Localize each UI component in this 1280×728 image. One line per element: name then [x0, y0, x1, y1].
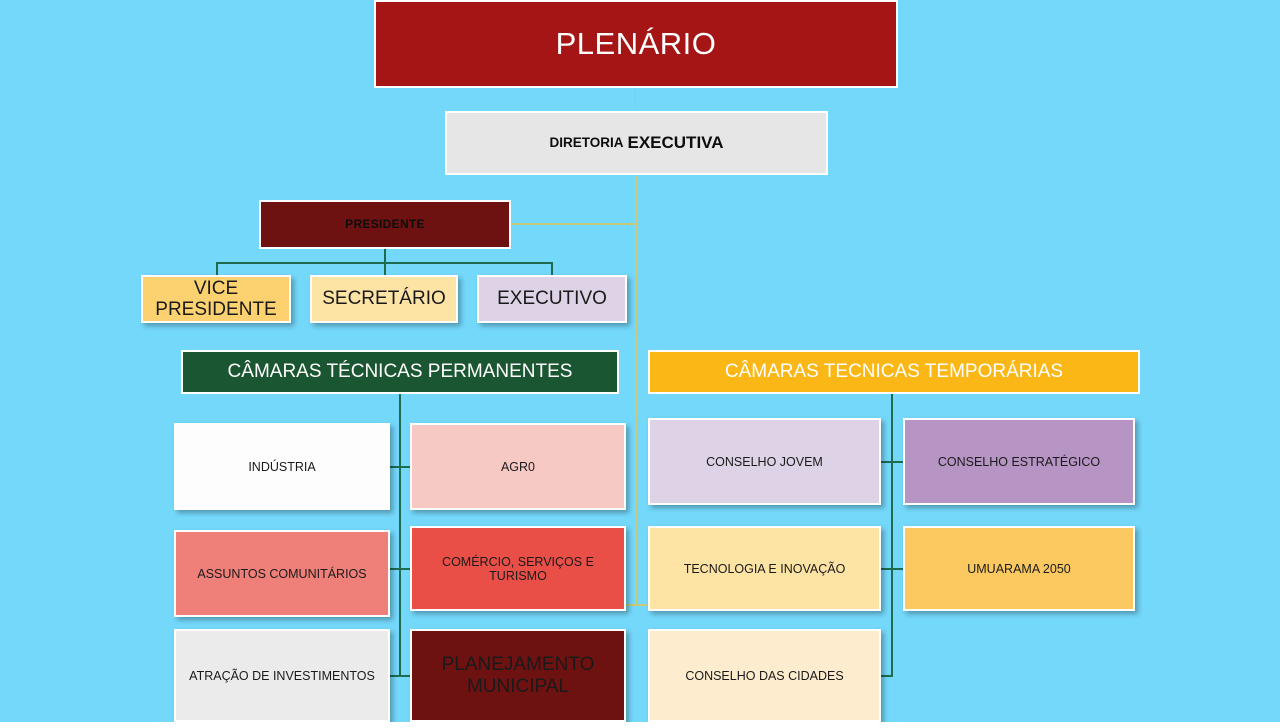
connector-drop-secretario: [384, 262, 386, 276]
card-conselho-estrategico-label: CONSELHO ESTRATÉGICO: [938, 455, 1100, 469]
node-executivo-label: EXECUTIVO: [497, 288, 607, 309]
connector-permanentes-trunk: [399, 394, 401, 676]
org-chart-canvas: PLENÁRIO DIRETORIA EXECUTIVA PRESIDENTE …: [0, 0, 1280, 728]
card-planejamento-municipal-label: PLANEJAMENTO MUNICIPAL: [412, 654, 624, 697]
card-planejamento-municipal[interactable]: PLANEJAMENTO MUNICIPAL: [410, 629, 626, 722]
bottom-white-strip: [0, 722, 1280, 728]
card-umuarama-2050-label: UMUARAMA 2050: [967, 562, 1071, 576]
node-presidente-label: PRESIDENTE: [345, 218, 425, 231]
connector-presidente-stem: [384, 249, 386, 263]
node-executivo[interactable]: EXECUTIVO: [477, 275, 627, 323]
card-industria-label: INDÚSTRIA: [248, 460, 315, 474]
header-camaras-tecnicas-temporarias[interactable]: CÂMARAS TECNICAS TEMPORÁRIAS: [648, 350, 1140, 394]
card-atracao-de-investimentos[interactable]: ATRAÇÃO DE INVESTIMENTOS: [174, 629, 390, 722]
card-conselho-estrategico[interactable]: CONSELHO ESTRATÉGICO: [903, 418, 1135, 505]
connector-diretoria-trunk: [635, 176, 637, 606]
connector-temporarias-trunk: [891, 394, 893, 676]
node-diretoria-executiva[interactable]: DIRETORIA EXECUTIVA: [445, 111, 828, 175]
card-atracao-de-investimentos-label: ATRAÇÃO DE INVESTIMENTOS: [189, 669, 375, 683]
card-conselho-das-cidades[interactable]: CONSELHO DAS CIDADES: [648, 629, 881, 722]
card-assuntos-comunitarios-label: ASSUNTOS COMUNITÁRIOS: [197, 567, 366, 581]
header-camaras-tecnicas-permanentes[interactable]: CÂMARAS TÉCNICAS PERMANENTES: [181, 350, 619, 394]
node-vice-presidente-label: VICE PRESIDENTE: [143, 278, 289, 321]
connector-temporarias-stub-1: [877, 461, 906, 463]
card-agro[interactable]: AGR0: [410, 423, 626, 510]
node-diretoria-label-bold: EXECUTIVA: [627, 133, 723, 152]
node-secretario[interactable]: SECRETÁRIO: [310, 275, 458, 323]
card-comercio-servicos-turismo[interactable]: COMÉRCIO, SERVIÇOS E TURISMO: [410, 526, 626, 611]
connector-plenario-diretoria: [635, 88, 636, 110]
card-tecnologia-e-inovacao[interactable]: TECNOLOGIA E INOVAÇÃO: [648, 526, 881, 611]
connector-trunk-presidente: [511, 223, 637, 225]
node-vice-presidente[interactable]: VICE PRESIDENTE: [141, 275, 291, 323]
connector-drop-executivo: [551, 262, 553, 276]
connector-drop-vice-presidente: [216, 262, 218, 276]
node-presidente[interactable]: PRESIDENTE: [259, 200, 511, 249]
card-conselho-jovem[interactable]: CONSELHO JOVEM: [648, 418, 881, 505]
card-comercio-servicos-turismo-label: COMÉRCIO, SERVIÇOS E TURISMO: [412, 555, 624, 583]
node-plenario-label: PLENÁRIO: [556, 27, 717, 62]
card-agro-label: AGR0: [501, 460, 535, 474]
card-conselho-das-cidades-label: CONSELHO DAS CIDADES: [685, 669, 843, 683]
card-umuarama-2050[interactable]: UMUARAMA 2050: [903, 526, 1135, 611]
card-tecnologia-e-inovacao-label: TECNOLOGIA E INOVAÇÃO: [684, 562, 846, 576]
card-industria[interactable]: INDÚSTRIA: [174, 423, 390, 510]
node-plenario[interactable]: PLENÁRIO: [374, 0, 898, 88]
card-conselho-jovem-label: CONSELHO JOVEM: [706, 455, 823, 469]
header-permanentes-label: CÂMARAS TÉCNICAS PERMANENTES: [228, 361, 573, 382]
card-assuntos-comunitarios[interactable]: ASSUNTOS COMUNITÁRIOS: [174, 530, 390, 617]
node-secretario-label: SECRETÁRIO: [322, 288, 446, 309]
node-diretoria-label-thin: DIRETORIA: [549, 135, 623, 150]
connector-temporarias-stub-2: [877, 568, 906, 570]
header-temporarias-label: CÂMARAS TECNICAS TEMPORÁRIAS: [725, 361, 1063, 382]
